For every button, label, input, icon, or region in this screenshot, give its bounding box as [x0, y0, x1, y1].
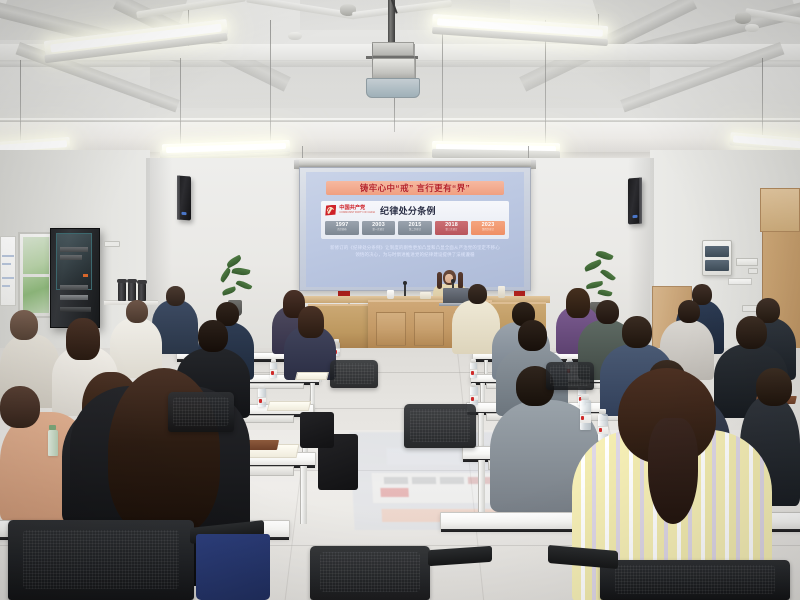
- wall-sign: [728, 278, 752, 285]
- cpc-name-cn: 中国共产党: [339, 205, 365, 211]
- timeline-sub: 第一次修订: [362, 229, 396, 231]
- water-bottle: [470, 386, 478, 405]
- cup: [498, 286, 505, 298]
- handout: [295, 372, 329, 380]
- thermos-flask: [128, 282, 136, 301]
- slide-card-title: 纪律处分条例: [380, 204, 436, 217]
- timeline-sub: 首次颁布: [325, 229, 359, 231]
- water-bottle: [270, 362, 277, 378]
- cpc-name: 中国共产党 COMMUNIST PARTY OF CHINA: [339, 206, 375, 215]
- mesh-office-chair: [310, 546, 430, 600]
- timeline-sub: 第二次修订: [398, 229, 432, 231]
- timeline-sub: 第四次修订: [471, 229, 505, 231]
- tray: [420, 292, 431, 299]
- wall-speaker: [177, 176, 191, 221]
- wall-poster: [0, 236, 16, 306]
- thermos-flask: [118, 282, 126, 301]
- water-bottle: [580, 400, 591, 430]
- microphone: [404, 284, 406, 296]
- cup: [387, 290, 394, 299]
- mesh-office-chair: [8, 520, 194, 600]
- cpc-emblem-icon: [325, 205, 336, 216]
- presentation-slide: 铸牢心中“戒” 言行更有“界” 中国共产党 COMMUNIST PARTY OF…: [306, 172, 524, 287]
- slide-banner-title: 铸牢心中“戒” 言行更有“界”: [326, 181, 505, 195]
- tote-bag: [196, 534, 270, 600]
- mesh-office-chair: [168, 392, 234, 432]
- smoke-detector: [288, 32, 302, 40]
- timeline-item: 2023 第四次修订: [471, 221, 505, 235]
- mesh-office-chair: [600, 560, 790, 600]
- mesh-office-chair: [404, 404, 476, 448]
- water-bottle: [470, 362, 477, 378]
- server-rack-cabinet: [50, 228, 100, 328]
- mesh-office-chair: [330, 360, 378, 388]
- timeline-item: 2018 第三次修订: [435, 221, 469, 235]
- thermos-flask: [138, 283, 146, 301]
- wall-speaker: [628, 178, 642, 225]
- projection-screen-roller: [296, 158, 534, 167]
- timeline-row: 1997 首次颁布 2003 第一次修订 2015 第二次修订 2018 第三次…: [325, 221, 504, 235]
- ceiling-band: [0, 118, 800, 154]
- projection-screen: 铸牢心中“戒” 言行更有“界” 中国共产党 COMMUNIST PARTY OF…: [299, 167, 531, 291]
- timeline-item: 2015 第二次修订: [398, 221, 432, 235]
- timeline-item: 1997 首次颁布: [325, 221, 359, 235]
- slide-card: 中国共产党 COMMUNIST PARTY OF CHINA 纪律处分条例 19…: [321, 201, 508, 239]
- electrical-distribution-panel: [702, 240, 732, 276]
- smoke-detector: [745, 24, 759, 32]
- water-bottle: [48, 430, 58, 456]
- power-outlet: [748, 268, 758, 274]
- handout: [267, 401, 311, 411]
- panel-label-sign: [736, 258, 758, 266]
- timeline-item: 2003 第一次修订: [362, 221, 396, 235]
- wooden-wall-cabinet: [760, 188, 800, 232]
- water-bottle: [258, 388, 266, 407]
- slide-body-text: 新修订的《纪律处分条例》让制度的刚性更加凸显和凸显全面从严治党的坚定不移心领悟的…: [328, 245, 502, 259]
- backpack: [300, 412, 334, 448]
- timeline-sub: 第三次修订: [435, 229, 469, 231]
- mesh-office-chair: [546, 362, 594, 390]
- cpc-name-en: COMMUNIST PARTY OF CHINA: [339, 212, 375, 215]
- power-outlet: [104, 241, 120, 247]
- classroom-photo: 铸牢心中“戒” 言行更有“界” 中国共产党 COMMUNIST PARTY OF…: [0, 0, 800, 600]
